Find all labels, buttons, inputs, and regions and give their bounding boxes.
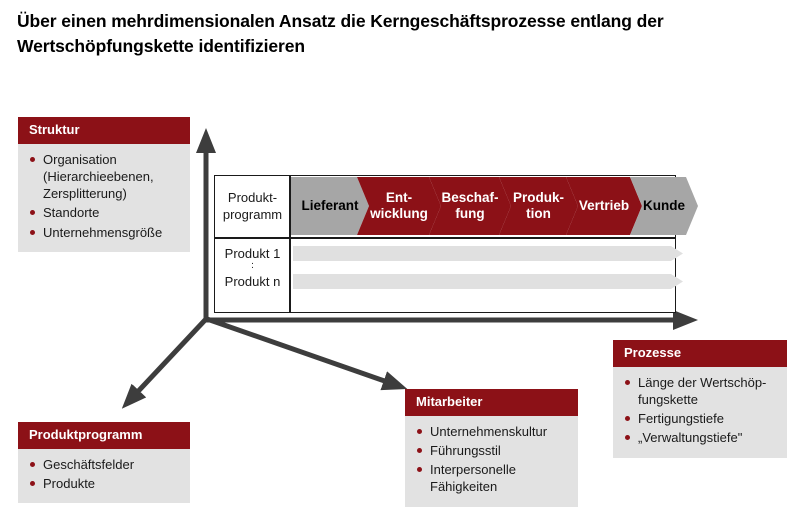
matrix-row-label-last: Produkt n [216,274,289,289]
bullet-dot-icon [30,157,35,162]
list-item-label: Geschäftsfelder [43,457,134,472]
list-item: Standorte [28,204,182,221]
bullet-dot-icon [30,481,35,486]
info-box-struktur-list: Organisation (Hierarchieebenen, Zersplit… [18,144,190,252]
info-box-prozesse-list: Länge der Wertschöp-fungskette Fertigung… [613,367,787,458]
matrix-corner-label: Produkt-programm [216,177,289,237]
chevron-beschaffung-label: Beschaf-fung [441,190,498,223]
list-item: Interpersonelle Fähigkeiten [415,461,570,496]
list-item: Unternehmenskultur [415,423,570,440]
value-chain-matrix: Produkt-programm Produkt 1 ·· Produkt n … [214,175,676,313]
matrix-row-ellipsis: ·· [216,262,289,270]
bullet-dot-icon [625,380,630,385]
list-item: Führungsstil [415,442,570,459]
info-box-struktur: Struktur Organisation (Hierarchieebenen,… [18,117,190,252]
list-item-label: Organisation (Hierarchieebenen, Zersplit… [43,152,154,202]
bullet-dot-icon [417,448,422,453]
info-box-produktprogramm-header: Produktprogramm [18,422,190,449]
chevron-lieferant[interactable]: Lieferant [291,177,369,235]
list-item-label: Unternehmensgröße [43,225,162,240]
info-box-mitarbeiter: Mitarbeiter Unternehmenskultur Führungss… [405,389,578,507]
list-item-label: Standorte [43,205,99,220]
product-bar-last [293,274,671,289]
chevron-beschaffung[interactable]: Beschaf-fung [429,177,511,235]
bullet-dot-icon [30,230,35,235]
matrix-corner-label-line1: Produkt-programm [223,190,282,223]
info-box-mitarbeiter-list: Unternehmenskultur Führungsstil Interper… [405,416,578,507]
bullet-dot-icon [417,429,422,434]
chevron-vertrieb-label: Vertrieb [579,198,629,214]
product-bar-first [293,246,671,261]
list-item-label: Interpersonelle Fähigkeiten [430,462,516,494]
list-item: Fertigungstiefe [623,410,779,427]
chevron-kunde-label: Kunde [643,198,685,214]
process-chevron-band: Lieferant Ent-wicklung Beschaf-fung Prod… [291,177,676,235]
chevron-entwicklung[interactable]: Ent-wicklung [357,177,441,235]
bullet-dot-icon [417,467,422,472]
list-item-label: Fertigungstiefe [638,411,724,426]
info-box-prozesse-header: Prozesse [613,340,787,367]
list-item-label: Führungsstil [430,443,501,458]
list-item: Geschäftsfelder [28,456,182,473]
matrix-horizontal-divider [214,237,676,239]
list-item: Organisation (Hierarchieebenen, Zersplit… [28,151,182,203]
axis-diagonal-produktprogramm [130,319,206,400]
info-box-prozesse: Prozesse Länge der Wertschöp-fungskette … [613,340,787,458]
bullet-dot-icon [625,416,630,421]
list-item: „Verwaltungstiefe" [623,429,779,446]
bullet-dot-icon [30,462,35,467]
list-item-label: Länge der Wertschöp-fungskette [638,375,766,407]
info-box-produktprogramm: Produktprogramm Geschäftsfelder Produkte [18,422,190,503]
info-box-struktur-header: Struktur [18,117,190,144]
bullet-dot-icon [30,210,35,215]
list-item-label: „Verwaltungstiefe" [638,430,742,445]
chevron-entwicklung-label: Ent-wicklung [370,190,428,223]
list-item: Unternehmensgröße [28,224,182,241]
list-item: Länge der Wertschöp-fungskette [623,374,779,409]
list-item-label: Unternehmenskultur [430,424,547,439]
list-item: Produkte [28,475,182,492]
chevron-produktion-label: Produk-tion [513,190,564,223]
info-box-mitarbeiter-header: Mitarbeiter [405,389,578,416]
chevron-lieferant-label: Lieferant [301,198,358,214]
info-box-produktprogramm-list: Geschäftsfelder Produkte [18,449,190,504]
bullet-dot-icon [625,435,630,440]
axis-diagonal-mitarbeiter [207,319,396,385]
list-item-label: Produkte [43,476,95,491]
